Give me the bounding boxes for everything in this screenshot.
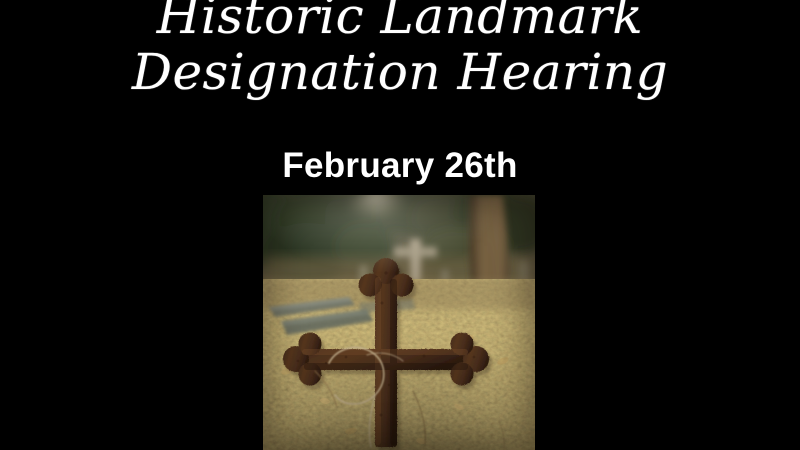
event-date: February 26th [0,146,800,186]
cemetery-photo [263,195,535,450]
cemetery-photo-graphic [263,195,535,450]
title-block: Historic Landmark Designation Hearing [0,0,800,102]
title-line-2: Designation Hearing [0,42,800,102]
title-line-1: Historic Landmark [0,0,800,46]
background-tree-trunk [469,195,509,291]
presentation-slide: Historic Landmark Designation Hearing Fe… [0,0,800,450]
